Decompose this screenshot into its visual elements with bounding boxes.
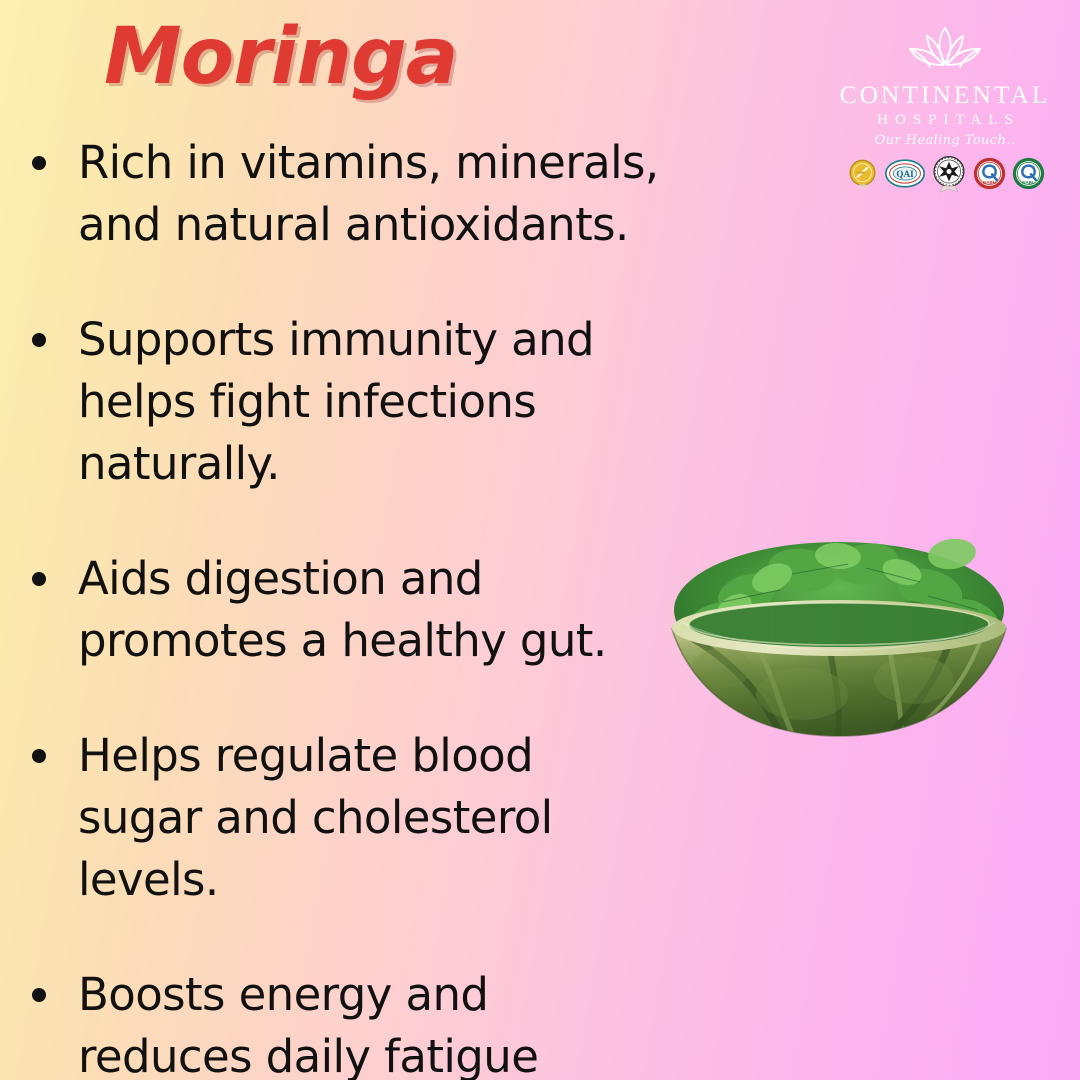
list-item-text: Rich in vitamins, minerals, and natural … [78, 132, 668, 255]
qai-badge: QAI [885, 158, 925, 189]
poster-canvas: Moringa CONTINENTAL HOSPITALS Our Healin… [0, 0, 1080, 1080]
brand-subname: HOSPITALS [836, 112, 1054, 129]
bullet-dot-icon [32, 749, 46, 763]
list-item-text: Helps regulate blood sugar and cholester… [78, 725, 668, 910]
page-title: Moringa [104, 18, 457, 96]
list-item: Helps regulate blood sugar and cholester… [18, 725, 668, 910]
brand-logo: CONTINENTAL HOSPITALS Our Healing Touch.… [836, 22, 1054, 193]
list-item: Rich in vitamins, minerals, and natural … [18, 132, 668, 255]
bullet-dot-icon [32, 988, 46, 1002]
brand-tagline: Our Healing Touch.. [836, 133, 1054, 148]
brand-name: CONTINENTAL [836, 82, 1054, 109]
accreditation-badges: QAI NABH [836, 155, 1054, 193]
benefits-list: Rich in vitamins, minerals, and natural … [18, 132, 668, 1080]
nabl-green-badge: NABL [1012, 157, 1045, 190]
list-item: Boosts energy and reduces daily fatigue … [18, 964, 668, 1080]
list-item-text: Boosts energy and reduces daily fatigue … [78, 964, 668, 1080]
nabh-red-badge: NABH [973, 157, 1006, 190]
gold-medal-badge [846, 157, 879, 190]
list-item: Aids digestion and promotes a healthy gu… [18, 548, 668, 671]
list-item-text: Aids digestion and promotes a healthy gu… [78, 548, 668, 671]
list-item: Supports immunity and helps fight infect… [18, 309, 668, 494]
bowl-of-moringa-leaves [652, 498, 1026, 760]
bullet-dot-icon [32, 572, 46, 586]
star-emblem-badge [931, 155, 967, 193]
svg-text:NABL: NABL [1022, 180, 1035, 185]
bullet-dot-icon [32, 156, 46, 170]
bullet-dot-icon [32, 333, 46, 347]
list-item-text: Supports immunity and helps fight infect… [78, 309, 668, 494]
svg-text:NABH: NABH [982, 180, 995, 185]
lotus-icon [897, 22, 993, 80]
svg-text:QAI: QAI [896, 169, 914, 179]
